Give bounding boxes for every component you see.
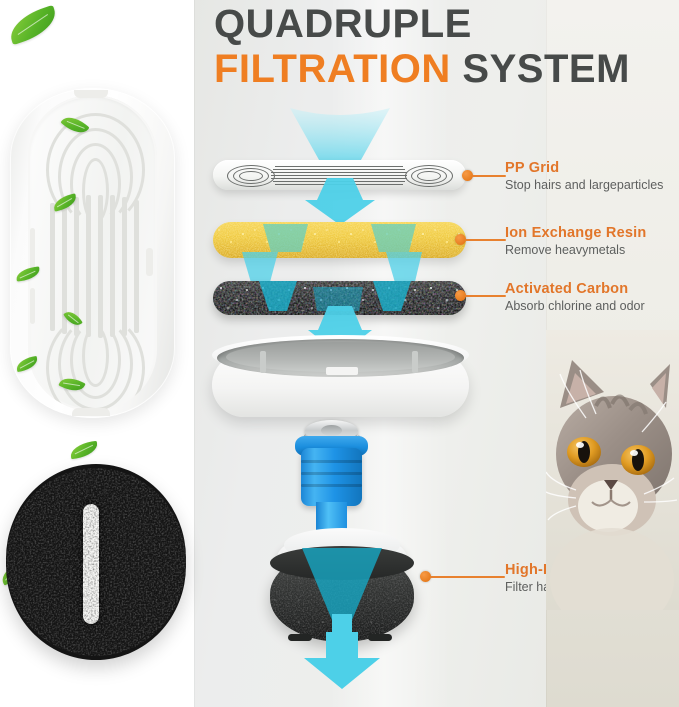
pp-grid-arc	[417, 171, 441, 181]
layer-filter-tray	[212, 339, 469, 417]
filter-cartridge-product	[10, 88, 175, 418]
assembly-foot	[368, 634, 392, 641]
tray-divider	[260, 351, 266, 373]
pp-grid-line	[271, 178, 407, 179]
callout-title: Activated Carbon	[505, 281, 645, 297]
infographic-canvas: QUADRUPLE FILTRATION SYSTEM	[0, 0, 679, 707]
callout-line-activated-carbon	[465, 295, 506, 297]
layer-ion-exchange-resin	[213, 222, 466, 258]
callout-ion-exchange-resin: Ion Exchange Resin Remove heavymetals	[505, 225, 646, 257]
headline-filtration: FILTRATION	[214, 47, 451, 91]
cartridge-grid-face	[28, 95, 157, 411]
pump-rib	[301, 460, 362, 463]
callout-line-pp-grid	[472, 175, 506, 177]
grid-slat	[122, 197, 127, 336]
cartridge-side-vent	[30, 288, 35, 324]
headline: QUADRUPLE FILTRATION SYSTEM	[214, 2, 664, 92]
callout-title: Ion Exchange Resin	[505, 225, 646, 241]
headline-system: SYSTEM	[451, 47, 630, 91]
pp-grid-line	[275, 166, 403, 167]
pp-grid-line	[275, 184, 403, 185]
callout-subtitle: Stop hairs and largeparticles	[505, 178, 663, 192]
pp-grid-line	[271, 175, 407, 176]
assembly-foot	[288, 634, 312, 641]
headline-line-1: QUADRUPLE	[214, 2, 664, 47]
carbon-texture	[213, 281, 466, 315]
pp-grid-line	[273, 169, 405, 170]
resin-texture	[213, 222, 466, 258]
grid-arc	[82, 325, 109, 387]
cartridge-side-vent	[30, 228, 35, 270]
grid-slat	[134, 200, 139, 333]
tray-front-notch	[326, 367, 358, 375]
callout-line-high-density-sponge	[430, 576, 505, 578]
layer-pp-grid	[213, 160, 466, 190]
callout-activated-carbon: Activated Carbon Absorb chlorine and odo…	[505, 281, 645, 313]
cartridge-bottom-notch	[72, 408, 110, 416]
cat-photo	[546, 330, 679, 610]
panel-seam-left	[194, 0, 195, 707]
sponge-product	[6, 464, 186, 660]
pump-barrel	[301, 448, 362, 506]
tray-divider	[412, 351, 418, 373]
sponge-texture	[6, 464, 186, 660]
pp-grid-line	[273, 181, 405, 182]
pump-sponge-assembly	[262, 420, 422, 648]
callout-subtitle: Absorb chlorine and odor	[505, 299, 645, 313]
cartridge-top-notch	[74, 90, 108, 98]
cartridge-side-clip	[146, 248, 153, 276]
pp-grid-line	[271, 172, 407, 173]
pump-rib	[301, 472, 362, 475]
callout-line-ion-exchange-resin	[465, 239, 506, 241]
cat-illustration	[546, 330, 679, 610]
pp-grid-arc	[239, 171, 263, 181]
callout-subtitle: Remove heavymetals	[505, 243, 646, 257]
layer-activated-carbon	[213, 281, 466, 315]
pump-rib	[301, 484, 362, 487]
grid-slat	[50, 203, 55, 331]
sponge-top-face	[270, 546, 414, 580]
headline-line-2: FILTRATION SYSTEM	[214, 47, 664, 92]
callout-pp-grid: PP Grid Stop hairs and largeparticles	[505, 160, 663, 192]
callout-title: PP Grid	[505, 160, 663, 176]
pump-intake-hole	[321, 425, 342, 436]
